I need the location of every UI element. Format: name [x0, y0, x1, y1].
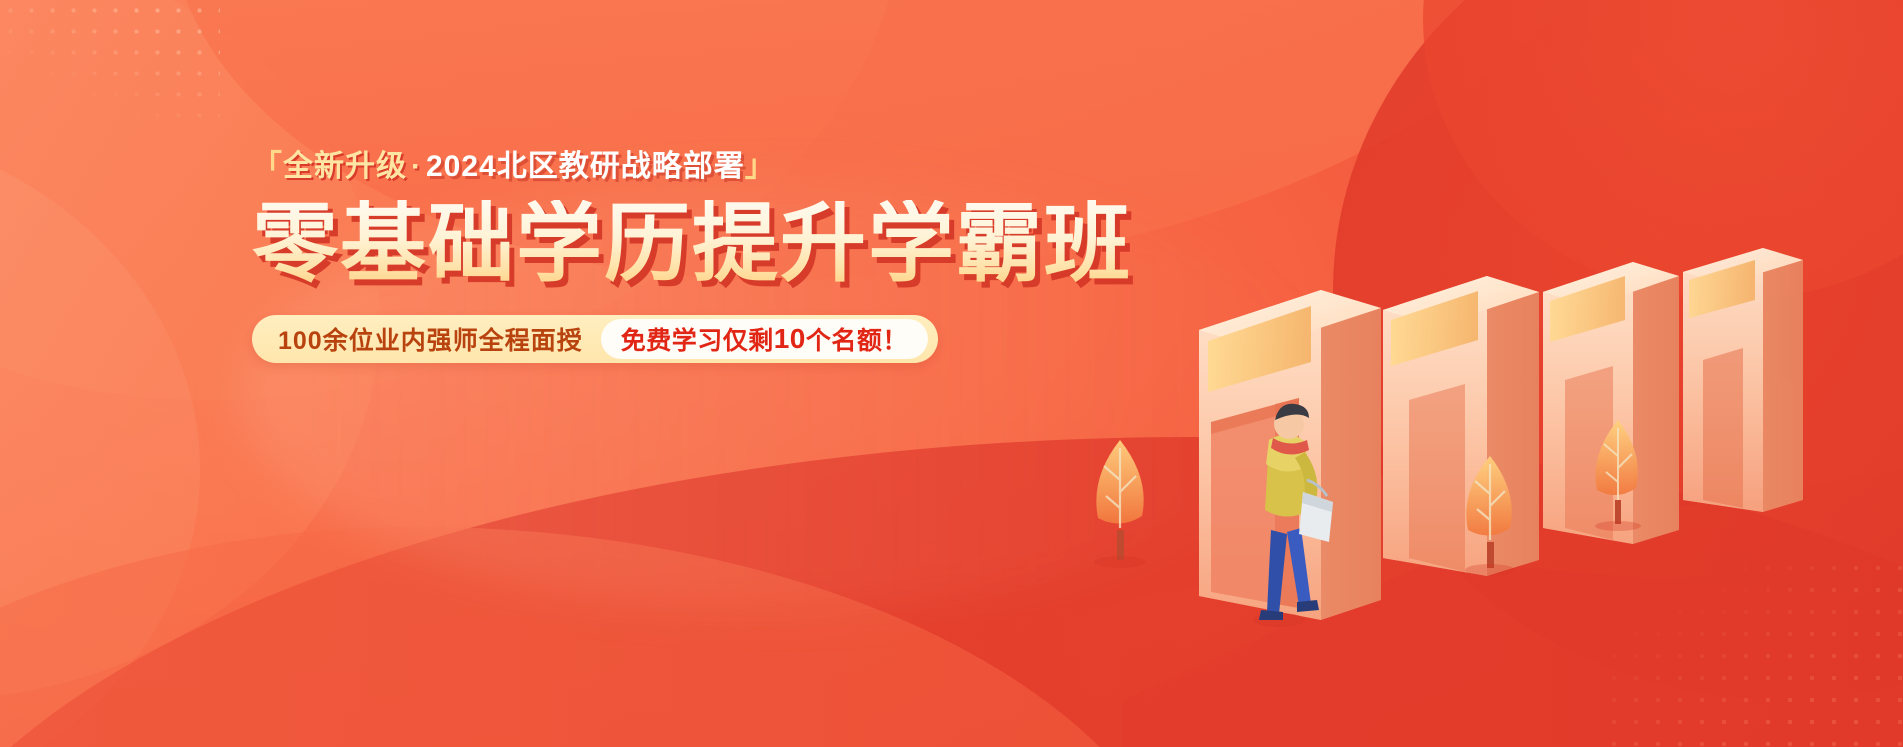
eyebrow-white-text: 2024北区教研战略部署	[426, 150, 745, 183]
chip-prefix: 免费学习仅剩	[621, 321, 774, 357]
eyebrow-separator: ·	[407, 150, 426, 183]
banner-copy: 「全新升级·2024北区教研战略部署」 零基础学历提升学霸班 100余位业内强师…	[252, 148, 1132, 363]
eyebrow-highlight: 全新升级	[283, 150, 407, 183]
promo-banner: 「全新升级·2024北区教研战略部署」 零基础学历提升学霸班 100余位业内强师…	[0, 0, 1903, 747]
pill-label: 100余位业内强师全程面授	[278, 321, 601, 357]
banner-pill: 100余位业内强师全程面授 免费学习仅剩10个名额！	[252, 315, 938, 363]
pill-chip[interactable]: 免费学习仅剩10个名额！	[601, 319, 928, 359]
tree-illustration-left	[1094, 440, 1146, 568]
banner-eyebrow: 「全新升级·2024北区教研战略部署」	[252, 148, 1132, 186]
background-blob-left-arc-2	[0, 120, 200, 747]
banner-headline: 零基础学历提升学霸班	[252, 200, 1132, 289]
chip-number: 10	[774, 323, 806, 355]
bracket-left-glyph: 「	[252, 150, 283, 183]
chip-suffix: 个名额！	[806, 321, 908, 357]
book-archway-illustration	[1003, 0, 1903, 747]
dot-grid-top-left	[0, 0, 220, 120]
bracket-right-glyph: 」	[745, 150, 776, 183]
